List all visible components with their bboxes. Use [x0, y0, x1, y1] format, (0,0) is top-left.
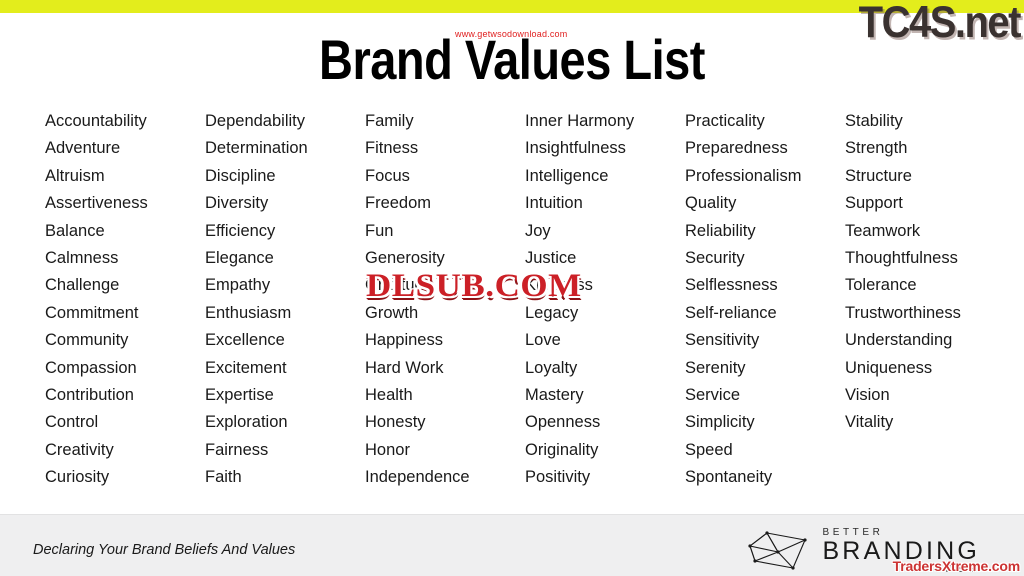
value-item: Exploration	[205, 409, 365, 436]
value-item: Serenity	[685, 355, 845, 382]
slide-root: TC4S.net www.getwsodownload.com Brand Va…	[0, 0, 1024, 576]
value-item: Dependability	[205, 108, 365, 135]
value-item: Honesty	[365, 409, 525, 436]
value-item: Assertiveness	[45, 190, 205, 217]
value-item: Strength	[845, 135, 1005, 162]
center-watermark: DLSUB.COM	[366, 268, 582, 305]
value-item: Sensitivity	[685, 327, 845, 354]
value-item: Altruism	[45, 163, 205, 190]
value-item: Intelligence	[525, 163, 685, 190]
value-item: Calmness	[45, 245, 205, 272]
value-item: Happiness	[365, 327, 525, 354]
value-item: Freedom	[365, 190, 525, 217]
bottom-right-watermark: TradersXtreme.com	[893, 558, 1020, 574]
value-item: Honor	[365, 437, 525, 464]
value-item: Hard Work	[365, 355, 525, 382]
value-item: Curiosity	[45, 464, 205, 491]
values-column-5: Practicality Preparedness Professionalis…	[685, 108, 845, 492]
value-item: Discipline	[205, 163, 365, 190]
value-item: Loyalty	[525, 355, 685, 382]
value-item: Empathy	[205, 272, 365, 299]
value-item: Control	[45, 409, 205, 436]
value-item: Excitement	[205, 355, 365, 382]
value-item: Fitness	[365, 135, 525, 162]
value-item: Quality	[685, 190, 845, 217]
value-item: Determination	[205, 135, 365, 162]
value-item: Originality	[525, 437, 685, 464]
value-item: Teamwork	[845, 218, 1005, 245]
center-watermark-text: DLSUB.COM	[366, 268, 582, 305]
values-column-1: Accountability Adventure Altruism Assert…	[45, 108, 205, 492]
value-item: Openness	[525, 409, 685, 436]
value-item: Fun	[365, 218, 525, 245]
value-item: Vision	[845, 382, 1005, 409]
top-watermark: www.getwsodownload.com	[455, 29, 567, 39]
value-item: Intuition	[525, 190, 685, 217]
diamond-gem-icon	[747, 530, 813, 574]
values-column-2: Dependability Determination Discipline D…	[205, 108, 365, 492]
tc4s-site-logo: TC4S.net	[859, 0, 1020, 48]
value-item: Preparedness	[685, 135, 845, 162]
value-item: Positivity	[525, 464, 685, 491]
value-item: Elegance	[205, 245, 365, 272]
value-item: Security	[685, 245, 845, 272]
value-item: Support	[845, 190, 1005, 217]
value-item: Excellence	[205, 327, 365, 354]
value-item: Thoughtfulness	[845, 245, 1005, 272]
value-item: Balance	[45, 218, 205, 245]
value-item: Tolerance	[845, 272, 1005, 299]
value-item: Reliability	[685, 218, 845, 245]
value-item: Faith	[205, 464, 365, 491]
value-item: Trustworthiness	[845, 300, 1005, 327]
value-item: Diversity	[205, 190, 365, 217]
value-item: Fairness	[205, 437, 365, 464]
value-item: Inner Harmony	[525, 108, 685, 135]
value-item: Mastery	[525, 382, 685, 409]
value-item: Contribution	[45, 382, 205, 409]
value-item: Vitality	[845, 409, 1005, 436]
value-item: Uniqueness	[845, 355, 1005, 382]
value-item: Professionalism	[685, 163, 845, 190]
value-item: Independence	[365, 464, 525, 491]
value-item: Self-reliance	[685, 300, 845, 327]
value-item: Challenge	[45, 272, 205, 299]
value-item: Focus	[365, 163, 525, 190]
value-item: Family	[365, 108, 525, 135]
value-item: Selflessness	[685, 272, 845, 299]
value-item: Compassion	[45, 355, 205, 382]
value-item: Joy	[525, 218, 685, 245]
value-item: Speed	[685, 437, 845, 464]
value-item: Community	[45, 327, 205, 354]
value-item: Creativity	[45, 437, 205, 464]
value-item: Practicality	[685, 108, 845, 135]
footer-caption: Declaring Your Brand Beliefs And Values	[33, 542, 295, 558]
value-item: Insightfulness	[525, 135, 685, 162]
value-item: Accountability	[45, 108, 205, 135]
slide-footer: Declaring Your Brand Beliefs And Values	[0, 514, 1024, 576]
values-column-6: Stability Strength Structure Support Tea…	[845, 108, 1005, 492]
value-item: Service	[685, 382, 845, 409]
value-item: Commitment	[45, 300, 205, 327]
value-item: Stability	[845, 108, 1005, 135]
value-item: Expertise	[205, 382, 365, 409]
value-item: Adventure	[45, 135, 205, 162]
value-item: Love	[525, 327, 685, 354]
value-item: Structure	[845, 163, 1005, 190]
value-item: Spontaneity	[685, 464, 845, 491]
value-item: Enthusiasm	[205, 300, 365, 327]
value-item: Understanding	[845, 327, 1005, 354]
value-item: Efficiency	[205, 218, 365, 245]
value-item: Simplicity	[685, 409, 845, 436]
value-item: Health	[365, 382, 525, 409]
